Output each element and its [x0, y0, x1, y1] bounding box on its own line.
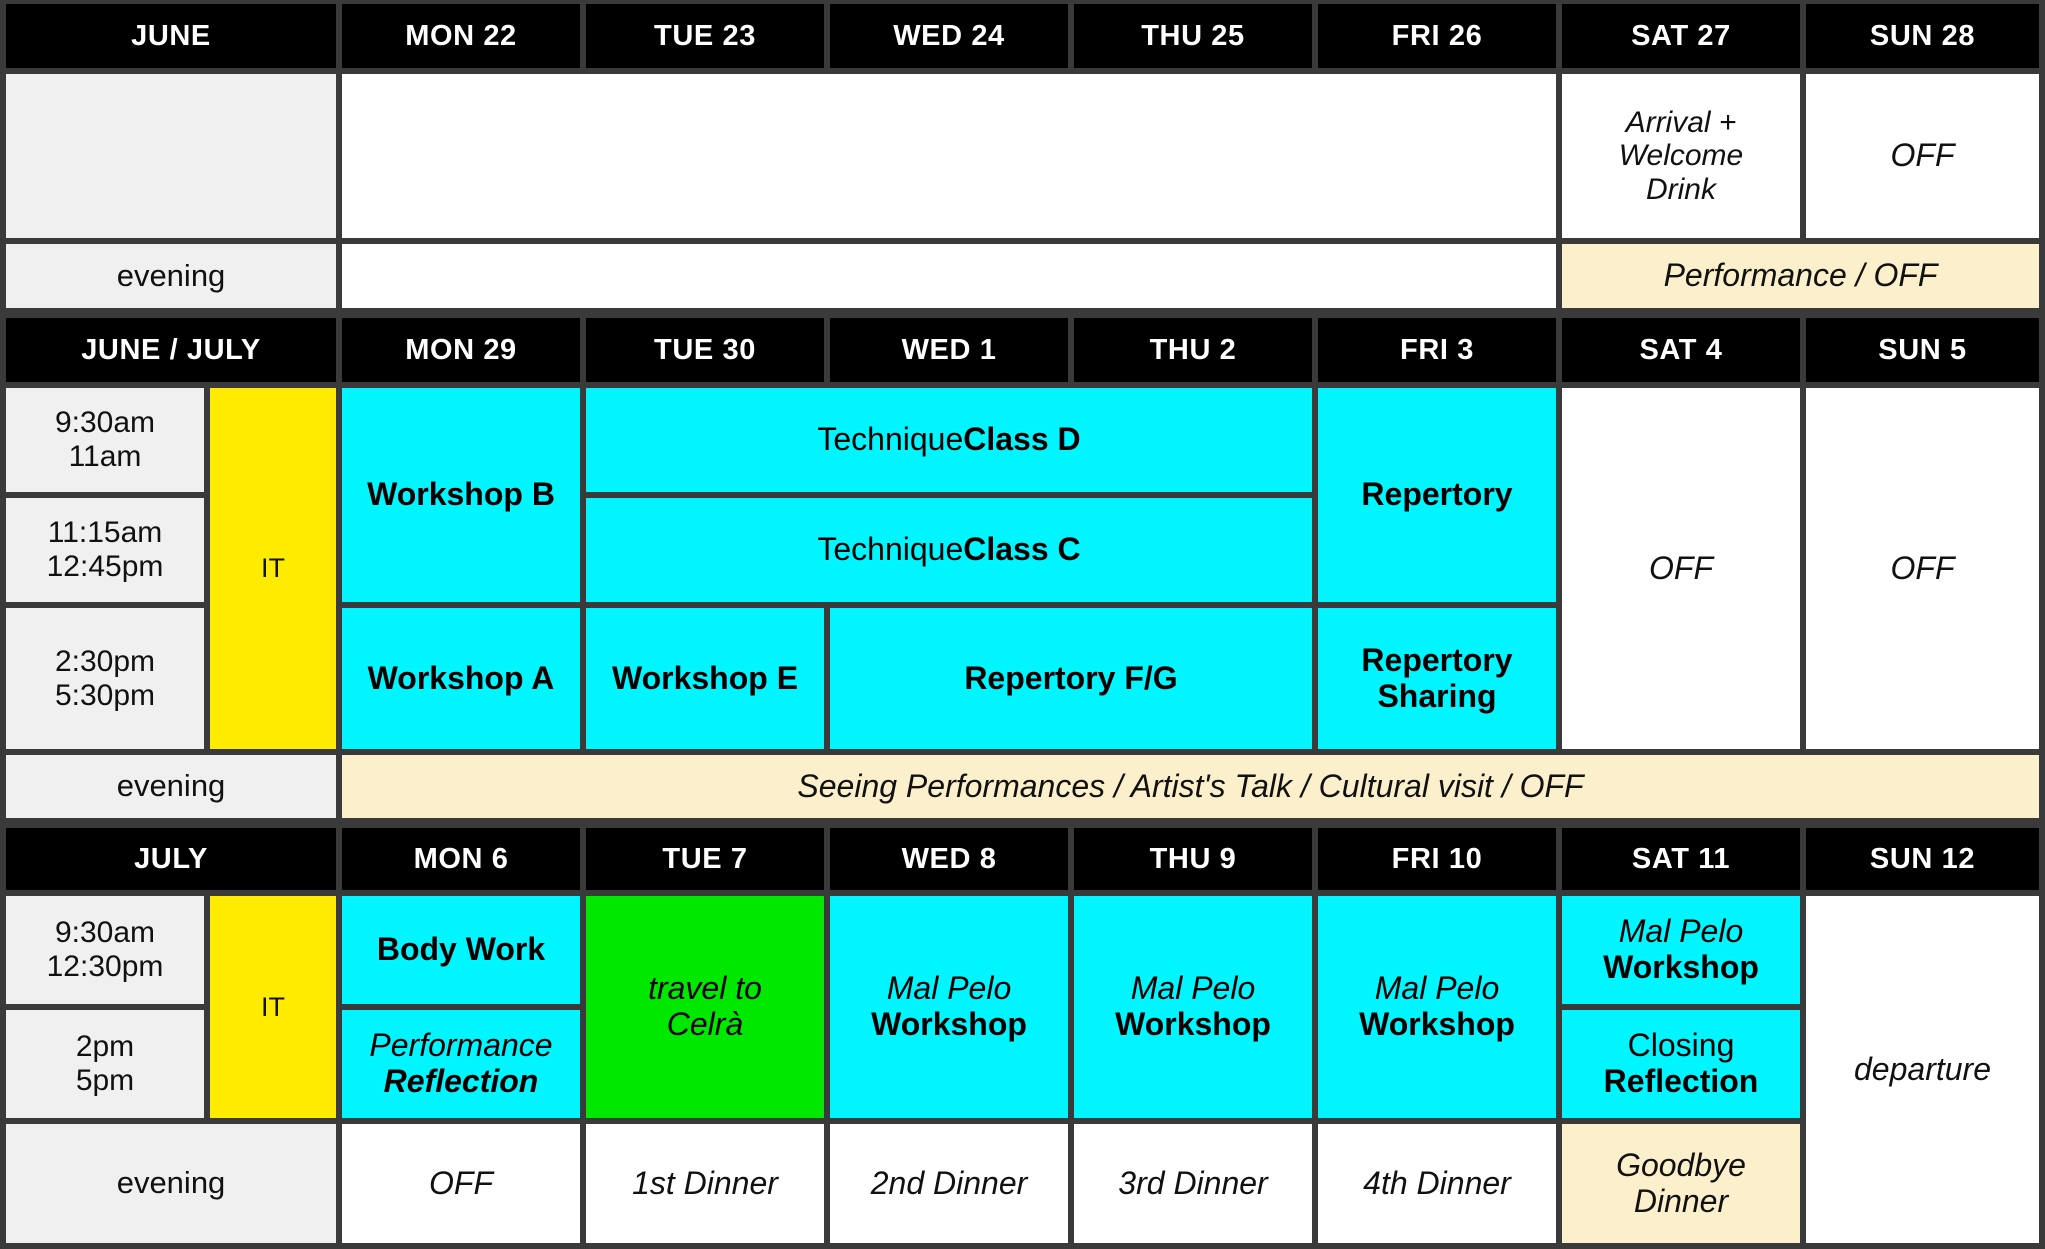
week2-sat4-activity: OFF	[1562, 388, 1800, 749]
activity-line-2: Welcome	[1619, 139, 1743, 173]
activity-line-2: Reflection	[384, 1064, 539, 1100]
activity-line-1: travel to	[648, 971, 762, 1007]
week2-day-header-wed: WED 1	[830, 318, 1068, 382]
activity-line-2: Workshop	[1603, 950, 1759, 986]
week2-fri3-morning: Repertory	[1318, 388, 1556, 602]
activity-line-1: Performance	[369, 1028, 552, 1064]
activity-line-3: Drink	[1646, 173, 1716, 207]
week2-technique-class-c: Technique Class C	[586, 498, 1312, 602]
week3-time-slot-2: 2pm 5pm	[6, 1010, 204, 1118]
week1-day-header-sun: SUN 28	[1806, 4, 2039, 68]
technique-prefix: Technique	[817, 532, 963, 568]
week2-day-header-thu: THU 2	[1074, 318, 1312, 382]
week2-technique-class-d: Technique Class D	[586, 388, 1312, 492]
activity-line-1: Closing	[1628, 1028, 1735, 1064]
week3-day-header-sun: SUN 12	[1806, 828, 2039, 890]
week2-mon29-afternoon: Workshop A	[342, 608, 580, 749]
week3-day-header-thu: THU 9	[1074, 828, 1312, 890]
activity-line-1: Mal Pelo	[887, 971, 1012, 1007]
week3-fri10-workshop: Mal Pelo Workshop	[1318, 896, 1556, 1118]
week3-evening-mon6: OFF	[342, 1124, 580, 1243]
activity-line-2: Workshop	[1115, 1007, 1271, 1043]
activity-line-1: Mal Pelo	[1375, 971, 1500, 1007]
time-start: 2pm	[76, 1030, 134, 1064]
week3-day-header-tue: TUE 7	[586, 828, 824, 890]
week2-day-header-sat: SAT 4	[1562, 318, 1800, 382]
schedule-table: JUNE MON 22 TUE 23 WED 24 THU 25 FRI 26 …	[0, 0, 2045, 1249]
week1-evening-label: evening	[6, 244, 336, 308]
technique-class: Class C	[963, 532, 1080, 568]
week2-month-header: JUNE / JULY	[6, 318, 336, 382]
week1-empty-block	[342, 74, 1556, 238]
week3-day-header-sat: SAT 11	[1562, 828, 1800, 890]
activity-line-2: Workshop	[871, 1007, 1027, 1043]
week2-it-label: IT	[210, 388, 336, 749]
time-end: 5:30pm	[55, 679, 155, 713]
week3-evening-fri10: 4th Dinner	[1318, 1124, 1556, 1243]
week2-time-slot-1: 9:30am 11am	[6, 388, 204, 492]
week1-time-placeholder	[6, 74, 336, 238]
activity-line-2: Workshop	[1359, 1007, 1515, 1043]
week1-day-header-mon: MON 22	[342, 4, 580, 68]
week1-evening-empty	[342, 244, 1556, 308]
week1-evening-activity: Performance / OFF	[1562, 244, 2039, 308]
time-end: 11am	[69, 440, 142, 474]
week1-day-header-thu: THU 25	[1074, 4, 1312, 68]
week2-day-header-mon: MON 29	[342, 318, 580, 382]
week3-day-header-mon: MON 6	[342, 828, 580, 890]
activity-line-2: Reflection	[1604, 1064, 1759, 1100]
week3-mon6-afternoon: Performance Reflection	[342, 1010, 580, 1118]
week2-evening-activity: Seeing Performances / Artist's Talk / Cu…	[342, 755, 2039, 818]
time-start: 2:30pm	[55, 645, 155, 679]
week3-evening-tue7: 1st Dinner	[586, 1124, 824, 1243]
activity-line-1: Repertory	[1361, 643, 1512, 679]
week3-evening-label: evening	[6, 1124, 336, 1243]
time-end: 12:30pm	[47, 950, 164, 984]
week3-time-slot-1: 9:30am 12:30pm	[6, 896, 204, 1004]
week2-sun5-activity: OFF	[1806, 388, 2039, 749]
week2-repertory-fg: Repertory F/G	[830, 608, 1312, 749]
week3-evening-thu9: 3rd Dinner	[1074, 1124, 1312, 1243]
week3-wed8-workshop: Mal Pelo Workshop	[830, 896, 1068, 1118]
activity-line-2: Dinner	[1634, 1184, 1728, 1220]
technique-prefix: Technique	[817, 422, 963, 458]
time-end: 5pm	[76, 1064, 134, 1098]
week1-month-header: JUNE	[6, 4, 336, 68]
week1-day-header-wed: WED 24	[830, 4, 1068, 68]
week3-thu9-workshop: Mal Pelo Workshop	[1074, 896, 1312, 1118]
week3-sun12-departure: departure	[1806, 896, 2039, 1243]
week1-day-header-sat: SAT 27	[1562, 4, 1800, 68]
week3-tue7-travel: travel to Celrà	[586, 896, 824, 1118]
week2-mon29-morning: Workshop B	[342, 388, 580, 602]
activity-line-2: Celrà	[667, 1007, 743, 1043]
activity-line-1: Goodbye	[1616, 1148, 1746, 1184]
week2-time-slot-2: 11:15am 12:45pm	[6, 498, 204, 602]
week3-mon6-morning: Body Work	[342, 896, 580, 1004]
week3-sat11-afternoon: Closing Reflection	[1562, 1010, 1800, 1118]
time-start: 11:15am	[48, 516, 163, 550]
week3-day-header-fri: FRI 10	[1318, 828, 1556, 890]
week3-it-label: IT	[210, 896, 336, 1118]
week3-month-header: JULY	[6, 828, 336, 890]
activity-line-1: Arrival +	[1626, 106, 1737, 140]
week1-sat27-activity: Arrival + Welcome Drink	[1562, 74, 1800, 238]
activity-line-2: Sharing	[1377, 679, 1496, 715]
week1-sun28-activity: OFF	[1806, 74, 2039, 238]
week3-day-header-wed: WED 8	[830, 828, 1068, 890]
week2-tue30-afternoon: Workshop E	[586, 608, 824, 749]
activity-line-1: Mal Pelo	[1619, 914, 1744, 950]
week2-day-header-sun: SUN 5	[1806, 318, 2039, 382]
week2-day-header-tue: TUE 30	[586, 318, 824, 382]
week1-day-header-fri: FRI 26	[1318, 4, 1556, 68]
technique-class: Class D	[963, 422, 1080, 458]
week2-evening-label: evening	[6, 755, 336, 818]
time-start: 9:30am	[55, 916, 155, 950]
week1-day-header-tue: TUE 23	[586, 4, 824, 68]
week3-sat11-morning: Mal Pelo Workshop	[1562, 896, 1800, 1004]
activity-line-1: Mal Pelo	[1131, 971, 1256, 1007]
week3-evening-sat11: Goodbye Dinner	[1562, 1124, 1800, 1243]
week2-day-header-fri: FRI 3	[1318, 318, 1556, 382]
week3-evening-wed8: 2nd Dinner	[830, 1124, 1068, 1243]
time-start: 9:30am	[55, 406, 155, 440]
time-end: 12:45pm	[47, 550, 164, 584]
week2-time-slot-3: 2:30pm 5:30pm	[6, 608, 204, 749]
week2-fri3-afternoon: Repertory Sharing	[1318, 608, 1556, 749]
